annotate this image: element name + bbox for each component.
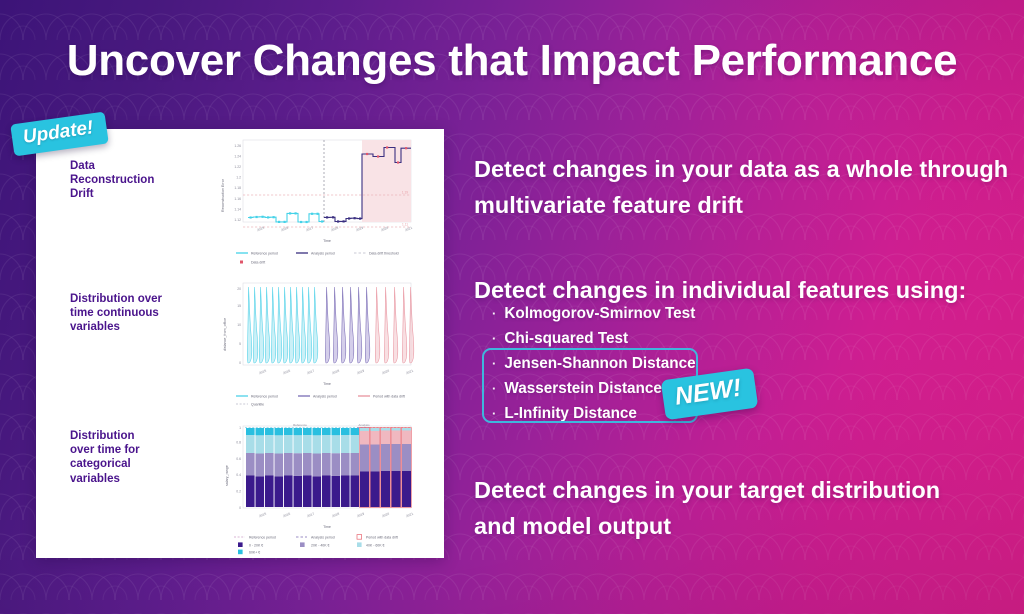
chart2-xticks: 2015 2016 2017 2018 2019 2020 2021 bbox=[258, 369, 414, 376]
svg-text:15: 15 bbox=[237, 304, 241, 308]
chart1-yticks: 1.12 1.14 1.16 1.18 1.2 1.22 1.24 1.26 bbox=[234, 144, 241, 222]
chart3-ylabel: salary_range bbox=[225, 465, 229, 486]
svg-text:Reference period: Reference period bbox=[251, 395, 278, 399]
svg-text:2017: 2017 bbox=[306, 369, 315, 376]
feature-methods-list: · Kolmogorov-Smirnov Test · Chi-squared … bbox=[482, 305, 812, 430]
svg-text:1.24: 1.24 bbox=[234, 154, 241, 158]
svg-text:0.8: 0.8 bbox=[236, 440, 241, 444]
list-item[interactable]: · Chi-squared Test bbox=[482, 330, 812, 355]
chart1-xlabel: Time bbox=[323, 239, 331, 243]
svg-text:1: 1 bbox=[239, 426, 241, 430]
svg-text:0: 0 bbox=[239, 506, 241, 510]
svg-text:2015: 2015 bbox=[258, 369, 267, 376]
chart3-yticks: 0 0.2 0.4 0.6 0.8 1 bbox=[236, 426, 241, 510]
bullet-dot-icon: · bbox=[492, 382, 496, 395]
svg-text:2016: 2016 bbox=[280, 226, 289, 233]
bullet-dot-icon: · bbox=[492, 357, 496, 370]
headline-individual-features: Detect changes in individual features us… bbox=[474, 272, 1024, 308]
svg-text:2021: 2021 bbox=[405, 512, 414, 519]
svg-text:0 - 20K €: 0 - 20K € bbox=[249, 543, 263, 547]
list-item[interactable]: · Kolmogorov-Smirnov Test bbox=[482, 305, 812, 330]
list-item-label: Wasserstein Distance bbox=[504, 380, 662, 398]
charts-card: Data Reconstruction Drift Reconstruction… bbox=[36, 129, 444, 558]
svg-text:10: 10 bbox=[237, 323, 241, 327]
chart2-yticks: 0 5 10 15 20 bbox=[237, 287, 241, 365]
list-item[interactable]: · L-Infinity Distance bbox=[482, 405, 812, 430]
chart-distribution-categorical: salary_range 0 0.2 0.4 0.6 0.8 1 Referen… bbox=[218, 420, 440, 556]
svg-text:Analysis period: Analysis period bbox=[311, 252, 335, 256]
chart-distribution-continuous: distance_from_office 0 5 10 15 20 bbox=[218, 277, 440, 413]
list-item[interactable]: · Wasserstein Distance bbox=[482, 380, 812, 405]
svg-text:40K - 60K €: 40K - 60K € bbox=[366, 543, 385, 547]
list-item-label: Chi-squared Test bbox=[504, 330, 628, 348]
svg-text:1.18: 1.18 bbox=[234, 186, 241, 190]
panel-1-label: Data Reconstruction Drift bbox=[70, 159, 180, 202]
svg-text:60K+ €: 60K+ € bbox=[249, 551, 260, 555]
svg-text:2021: 2021 bbox=[404, 226, 413, 233]
bullet-dot-icon: · bbox=[492, 332, 496, 345]
headline-target-distribution: Detect changes in your target distributi… bbox=[474, 472, 944, 544]
panel-distribution-continuous: Distribution over time continuous variab… bbox=[36, 272, 444, 415]
chart3-xlabel: Time bbox=[323, 525, 331, 529]
svg-text:2016: 2016 bbox=[282, 512, 291, 519]
svg-text:Data drift: Data drift bbox=[251, 261, 265, 265]
svg-text:1.26: 1.26 bbox=[234, 144, 241, 148]
chart1-ylabel: Reconstruction Error bbox=[221, 178, 225, 212]
chart2-xlabel: Time bbox=[323, 382, 331, 386]
svg-text:Analysis period: Analysis period bbox=[313, 395, 337, 399]
chart3-bars-drift bbox=[359, 428, 411, 508]
right-content-column: Detect changes in your data as a whole t… bbox=[474, 0, 1024, 614]
svg-text:Data drift threshold: Data drift threshold bbox=[369, 252, 399, 256]
panel-3-label: Distribution over time for categorical v… bbox=[70, 429, 180, 486]
svg-text:0.2: 0.2 bbox=[236, 490, 241, 494]
svg-text:2017: 2017 bbox=[306, 512, 315, 519]
svg-text:0.4: 0.4 bbox=[236, 473, 241, 477]
chart-data-reconstruction-drift: Reconstruction Error 1.12 1.14 1.16 1.18… bbox=[218, 134, 440, 270]
svg-text:Period with data drift: Period with data drift bbox=[366, 536, 398, 540]
svg-text:1.14: 1.14 bbox=[234, 207, 241, 211]
svg-text:2016: 2016 bbox=[282, 369, 291, 376]
svg-text:5: 5 bbox=[239, 342, 241, 346]
svg-text:1.2: 1.2 bbox=[236, 176, 241, 180]
headline-multivariate-drift: Detect changes in your data as a whole t… bbox=[474, 151, 1014, 223]
svg-text:2019: 2019 bbox=[356, 512, 365, 519]
svg-text:Reference period: Reference period bbox=[249, 536, 276, 540]
list-item-label: L-Infinity Distance bbox=[504, 405, 637, 423]
svg-text:2020: 2020 bbox=[381, 512, 390, 519]
svg-text:0: 0 bbox=[239, 361, 241, 365]
svg-text:1.22: 1.22 bbox=[234, 165, 241, 169]
svg-text:Period with data drift: Period with data drift bbox=[373, 395, 405, 399]
chart1-threshold-upper: 1.19 bbox=[402, 191, 408, 195]
svg-text:Quantile: Quantile bbox=[251, 403, 264, 407]
svg-text:Analysis period: Analysis period bbox=[311, 536, 335, 540]
chart2-ylabel: distance_from_office bbox=[223, 318, 227, 351]
svg-text:2021: 2021 bbox=[405, 369, 414, 376]
svg-text:20: 20 bbox=[237, 287, 241, 291]
svg-text:2019: 2019 bbox=[356, 369, 365, 376]
list-item-label: Jensen-Shannon Distance bbox=[504, 355, 695, 373]
panel-data-reconstruction-drift: Data Reconstruction Drift Reconstruction… bbox=[36, 129, 444, 272]
chart3-xticks: 2015 2016 2017 2018 2019 2020 2021 bbox=[258, 512, 414, 519]
svg-text:2018: 2018 bbox=[331, 369, 340, 376]
svg-text:2020: 2020 bbox=[380, 226, 389, 233]
svg-text:1.16: 1.16 bbox=[234, 197, 241, 201]
svg-text:2015: 2015 bbox=[256, 226, 265, 233]
chart3-legend: Reference period Analysis period Period … bbox=[234, 535, 398, 555]
chart1-legend: Reference period Analysis period Data dr… bbox=[236, 252, 399, 265]
svg-text:Reference: Reference bbox=[293, 423, 307, 427]
svg-text:2018: 2018 bbox=[331, 512, 340, 519]
panel-2-label: Distribution over time continuous variab… bbox=[70, 292, 180, 335]
list-item[interactable]: · Jensen-Shannon Distance bbox=[482, 355, 812, 380]
panel-distribution-categorical: Distribution over time for categorical v… bbox=[36, 415, 444, 558]
svg-text:2015: 2015 bbox=[258, 512, 267, 519]
svg-text:0.6: 0.6 bbox=[236, 457, 241, 461]
bullet-dot-icon: · bbox=[492, 307, 496, 320]
bullet-dot-icon: · bbox=[492, 407, 496, 420]
chart2-legend: Reference period Analysis period Period … bbox=[236, 395, 405, 407]
svg-text:Reference period: Reference period bbox=[251, 252, 278, 256]
chart1-threshold-lower: 1.11 bbox=[402, 223, 408, 227]
svg-text:20K - 40K €: 20K - 40K € bbox=[311, 543, 330, 547]
list-item-label: Kolmogorov-Smirnov Test bbox=[504, 305, 695, 323]
svg-text:2017: 2017 bbox=[305, 226, 314, 233]
svg-text:1.12: 1.12 bbox=[234, 218, 241, 222]
svg-text:2020: 2020 bbox=[381, 369, 390, 376]
svg-text:Analysis: Analysis bbox=[358, 423, 370, 427]
